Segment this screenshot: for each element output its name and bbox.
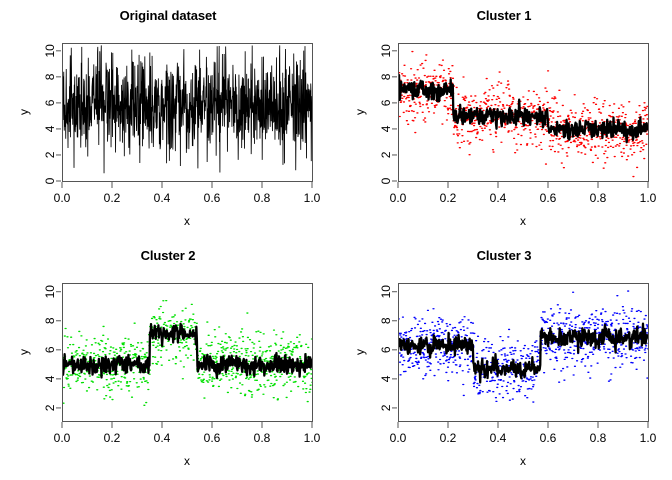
svg-text:8: 8 bbox=[43, 317, 57, 324]
svg-text:0.0: 0.0 bbox=[390, 431, 407, 445]
svg-text:0.6: 0.6 bbox=[204, 191, 221, 205]
svg-text:2: 2 bbox=[43, 151, 57, 158]
svg-text:6: 6 bbox=[379, 99, 393, 106]
svg-text:x: x bbox=[520, 214, 526, 228]
panel-cluster-1: Cluster 1 0.00.20.40.60.81.00246810xy bbox=[336, 0, 672, 240]
svg-text:0.4: 0.4 bbox=[154, 191, 171, 205]
svg-text:10: 10 bbox=[43, 285, 57, 299]
plot-area-original-dataset: 0.00.20.40.60.81.00246810xy bbox=[0, 0, 336, 240]
svg-text:2: 2 bbox=[43, 404, 57, 411]
svg-text:0.0: 0.0 bbox=[54, 431, 71, 445]
svg-text:6: 6 bbox=[43, 346, 57, 353]
svg-text:1.0: 1.0 bbox=[304, 191, 321, 205]
svg-text:8: 8 bbox=[379, 73, 393, 80]
svg-text:8: 8 bbox=[43, 73, 57, 80]
plot-area-cluster-3: 0.00.20.40.60.81.0246810xy bbox=[336, 240, 672, 480]
svg-text:1.0: 1.0 bbox=[640, 431, 657, 445]
svg-text:2: 2 bbox=[379, 404, 393, 411]
figure-panel-grid: Original dataset 0.00.20.40.60.81.002468… bbox=[0, 0, 672, 480]
svg-text:0.2: 0.2 bbox=[104, 191, 121, 205]
svg-text:0.2: 0.2 bbox=[440, 431, 457, 445]
svg-text:x: x bbox=[184, 214, 190, 228]
svg-text:y: y bbox=[17, 109, 31, 115]
svg-text:x: x bbox=[520, 454, 526, 468]
svg-text:0.8: 0.8 bbox=[254, 191, 271, 205]
svg-text:10: 10 bbox=[43, 44, 57, 58]
svg-text:0.6: 0.6 bbox=[540, 431, 557, 445]
svg-text:0.2: 0.2 bbox=[104, 431, 121, 445]
svg-text:4: 4 bbox=[43, 125, 57, 132]
svg-text:1.0: 1.0 bbox=[304, 431, 321, 445]
svg-text:4: 4 bbox=[379, 125, 393, 132]
svg-text:0.8: 0.8 bbox=[590, 191, 607, 205]
svg-text:0.0: 0.0 bbox=[54, 191, 71, 205]
svg-text:4: 4 bbox=[379, 375, 393, 382]
svg-text:0.4: 0.4 bbox=[490, 431, 507, 445]
panel-original-dataset: Original dataset 0.00.20.40.60.81.002468… bbox=[0, 0, 336, 240]
svg-text:0: 0 bbox=[379, 177, 393, 184]
svg-text:y: y bbox=[353, 349, 367, 355]
svg-text:6: 6 bbox=[379, 346, 393, 353]
svg-text:0.6: 0.6 bbox=[204, 431, 221, 445]
svg-text:x: x bbox=[184, 454, 190, 468]
svg-text:0.6: 0.6 bbox=[540, 191, 557, 205]
svg-text:1.0: 1.0 bbox=[640, 191, 657, 205]
svg-text:6: 6 bbox=[43, 99, 57, 106]
svg-text:4: 4 bbox=[43, 375, 57, 382]
svg-text:0.4: 0.4 bbox=[154, 431, 171, 445]
plot-area-cluster-1: 0.00.20.40.60.81.00246810xy bbox=[336, 0, 672, 240]
plot-area-cluster-2: 0.00.20.40.60.81.0246810xy bbox=[0, 240, 336, 480]
svg-text:10: 10 bbox=[379, 285, 393, 299]
svg-text:0.4: 0.4 bbox=[490, 191, 507, 205]
svg-text:0.8: 0.8 bbox=[254, 431, 271, 445]
svg-text:8: 8 bbox=[379, 317, 393, 324]
svg-text:10: 10 bbox=[379, 44, 393, 58]
svg-text:y: y bbox=[17, 349, 31, 355]
svg-text:0.2: 0.2 bbox=[440, 191, 457, 205]
svg-text:0: 0 bbox=[43, 177, 57, 184]
svg-text:0.8: 0.8 bbox=[590, 431, 607, 445]
svg-text:0.0: 0.0 bbox=[390, 191, 407, 205]
svg-text:2: 2 bbox=[379, 151, 393, 158]
panel-cluster-3: Cluster 3 0.00.20.40.60.81.0246810xy bbox=[336, 240, 672, 480]
panel-cluster-2: Cluster 2 0.00.20.40.60.81.0246810xy bbox=[0, 240, 336, 480]
svg-text:y: y bbox=[353, 109, 367, 115]
